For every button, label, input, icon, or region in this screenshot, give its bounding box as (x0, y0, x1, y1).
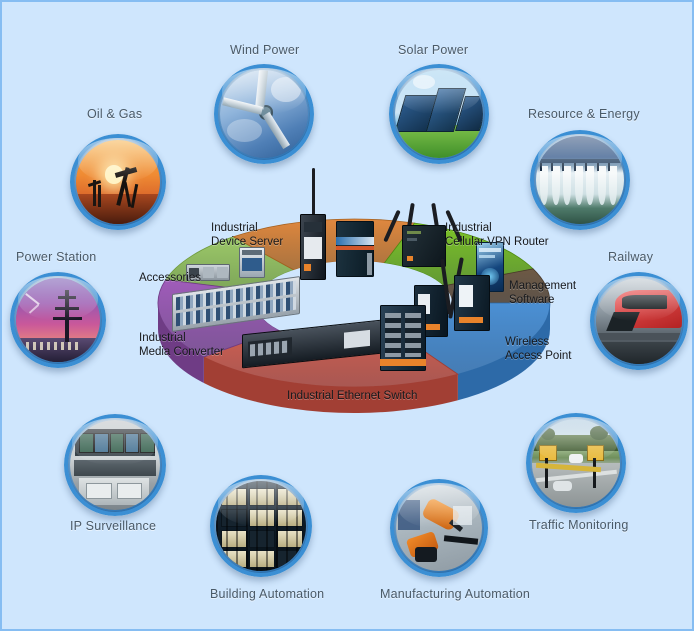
application-bubble-manufacturing-automation[interactable] (390, 479, 488, 577)
device-server-rack (336, 221, 374, 277)
ring-label-line: Industrial (211, 222, 283, 236)
ring-label-wireless-access-point: WirelessAccess Point (505, 336, 571, 363)
ring-label-line: Industrial (139, 332, 224, 346)
ring-label-line: Access Point (505, 350, 571, 364)
ring-label-line: Accessories (139, 272, 201, 286)
bubble-photo-wind-turbine-clouds (220, 70, 308, 158)
device-din-rail-converter (239, 247, 265, 278)
application-label-power-station: Power Station (16, 250, 96, 264)
ring-label-line: Device Server (211, 236, 283, 250)
ring-label-industrial-cellular-vpn-router: IndustrialCellular VPN Router (445, 222, 549, 249)
bubble-photo-high-speed-train (596, 278, 682, 364)
scene-robotic-arm-factory (396, 485, 482, 571)
bubble-photo-oil-pumpjack-sunset (76, 140, 160, 224)
product-donut-ring: AccessoriesIndustrialDevice ServerIndust… (154, 207, 554, 422)
ring-label-line: Industrial (445, 222, 549, 236)
application-label-oil-and-gas: Oil & Gas (87, 107, 142, 121)
bubble-photo-power-pylon-dusk (16, 278, 100, 362)
ring-label-line: Media Converter (139, 346, 224, 360)
ring-label-industrial-device-server: IndustrialDevice Server (211, 222, 283, 249)
ring-label-line: Wireless (505, 336, 571, 350)
application-bubble-railway[interactable] (590, 272, 688, 370)
device-din-rail-switch (380, 305, 426, 371)
scene-high-speed-train (596, 278, 682, 364)
ring-label-industrial-ethernet-switch: Industrial Ethernet Switch (287, 390, 417, 404)
bubble-photo-roadside-traffic-cameras (532, 419, 620, 507)
device-wireless-ap-right (454, 275, 490, 331)
ring-label-line: Cellular VPN Router (445, 236, 549, 250)
ring-label-accessories: Accessories (139, 272, 201, 286)
application-bubble-building-automation[interactable] (210, 475, 312, 577)
bubble-photo-office-building-windows (216, 481, 306, 571)
ring-label-line: Software (509, 294, 576, 308)
ring-label-industrial-media-converter: IndustrialMedia Converter (139, 332, 224, 359)
ring-label-management-software: ManagementSoftware (509, 280, 576, 307)
scene-office-building-windows (216, 481, 306, 571)
bubble-photo-robotic-arm-factory (396, 485, 482, 571)
application-bubble-solar-power[interactable] (389, 64, 489, 164)
scene-control-room-monitors (70, 420, 160, 510)
scene-roadside-traffic-cameras (532, 419, 620, 507)
application-bubble-power-station[interactable] (10, 272, 106, 368)
application-label-railway: Railway (608, 250, 653, 264)
ring-label-line: Management (509, 280, 576, 294)
application-bubble-oil-and-gas[interactable] (70, 134, 166, 230)
scene-oil-pumpjack-sunset (76, 140, 160, 224)
device-server-black (300, 214, 326, 280)
bubble-photo-control-room-monitors (70, 420, 160, 510)
infographic-canvas: Oil & GasWind PowerSolar PowerResource &… (0, 0, 694, 631)
scene-wind-turbine-clouds (220, 70, 308, 158)
ring-label-line: Industrial Ethernet Switch (287, 390, 417, 404)
application-bubble-ip-surveillance[interactable] (64, 414, 166, 516)
application-label-manufacturing-automation: Manufacturing Automation (380, 587, 530, 601)
application-label-resource-and-energy: Resource & Energy (528, 107, 640, 121)
application-bubble-wind-power[interactable] (214, 64, 314, 164)
application-bubble-traffic-monitoring[interactable] (526, 413, 626, 513)
application-label-traffic-monitoring: Traffic Monitoring (529, 518, 628, 532)
application-label-solar-power: Solar Power (398, 43, 468, 57)
application-label-wind-power: Wind Power (230, 43, 299, 57)
bubble-photo-solar-panels-field (395, 70, 483, 158)
scene-solar-panels-field (395, 70, 483, 158)
application-label-building-automation: Building Automation (210, 587, 324, 601)
scene-power-pylon-dusk (16, 278, 100, 362)
application-label-ip-surveillance: IP Surveillance (70, 519, 156, 533)
